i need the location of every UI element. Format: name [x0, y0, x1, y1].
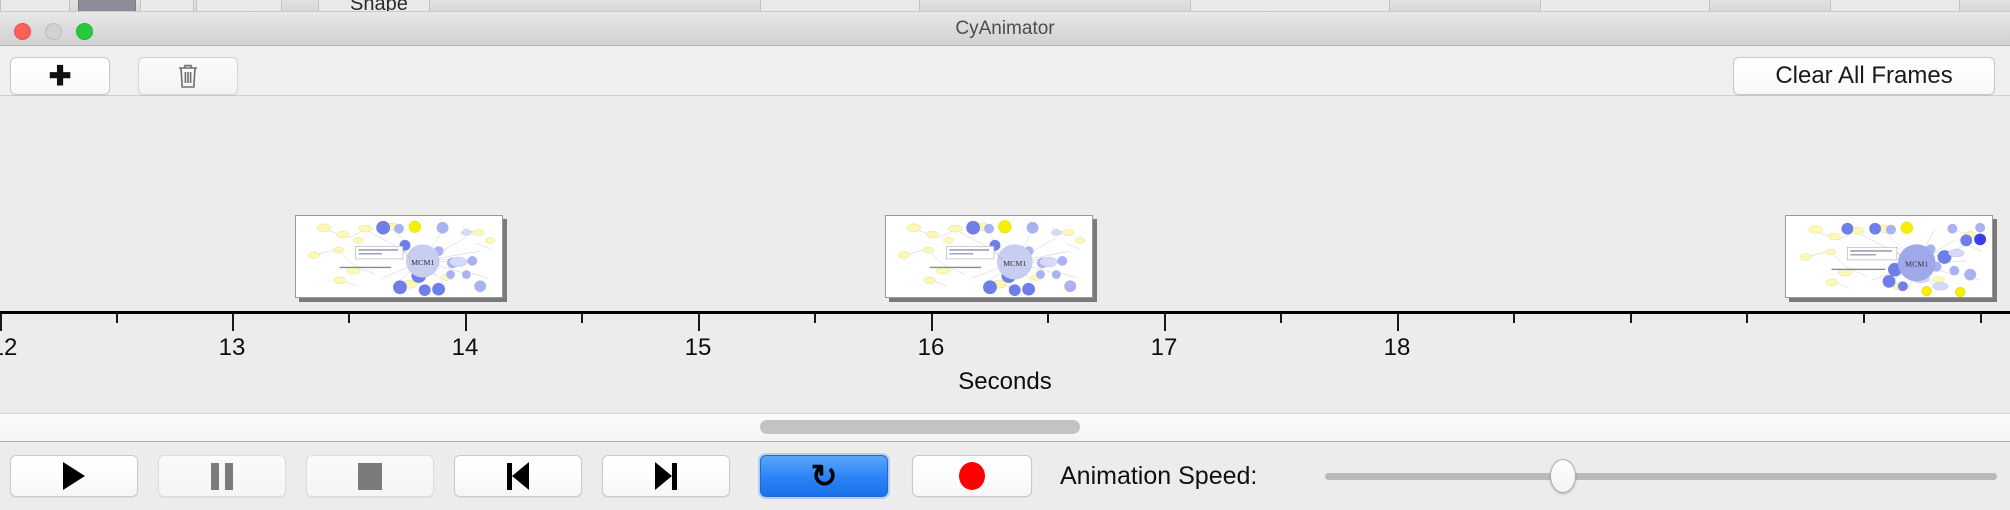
- skip-forward-icon: [655, 462, 677, 490]
- tick-minor: [814, 314, 816, 323]
- record-icon: [959, 462, 985, 490]
- toolbar: [0, 46, 2010, 96]
- loop-icon: ↻: [811, 460, 838, 492]
- timeline-axis-line: [0, 311, 2010, 314]
- network-graph-3: MCM1: [1786, 216, 1992, 297]
- tick-major-17: [1164, 314, 1166, 331]
- tick-major-16: [931, 314, 933, 331]
- tick-label-14: 14: [452, 334, 479, 362]
- stop-button[interactable]: [306, 455, 434, 497]
- tick-major-13: [232, 314, 234, 331]
- play-icon: [63, 462, 85, 490]
- tick-minor: [348, 314, 350, 323]
- slider-thumb[interactable]: [1550, 459, 1576, 493]
- tick-major-18: [1397, 314, 1399, 331]
- scrollbar-thumb[interactable]: [760, 420, 1080, 434]
- tick-minor: [1513, 314, 1515, 323]
- tick-minor: [1630, 314, 1632, 323]
- stop-icon: [358, 463, 382, 490]
- tick-minor: [1280, 314, 1282, 323]
- cyanimator-window: Shape CyAnimator ✚ Clear All Frames: [0, 0, 2010, 510]
- network-graph-2: MCM1: [886, 216, 1092, 297]
- title-bar: CyAnimator: [0, 12, 2010, 46]
- frame-2-center-label: MCM1: [1003, 259, 1026, 268]
- skip-backward-icon: [507, 462, 529, 490]
- tick-minor: [581, 314, 583, 323]
- pause-button[interactable]: [158, 455, 286, 497]
- timeline-panel[interactable]: MCM1: [0, 96, 2010, 413]
- plus-icon: ✚: [49, 63, 72, 90]
- network-graph-1: MCM1: [296, 216, 502, 297]
- tick-minor: [1980, 314, 1982, 323]
- tick-label-13: 13: [219, 334, 246, 362]
- frame-3-center-label: MCM1: [1905, 260, 1928, 269]
- animation-speed-label: Animation Speed:: [1060, 462, 1257, 491]
- frame-thumbnail-1[interactable]: MCM1: [295, 215, 503, 298]
- tick-label-12: 12: [0, 334, 17, 362]
- tick-label-16: 16: [918, 334, 945, 362]
- window-title: CyAnimator: [0, 12, 2010, 46]
- timeline-axis-title: Seconds: [0, 368, 2010, 396]
- tick-minor: [116, 314, 118, 323]
- add-frame-button[interactable]: ✚: [10, 57, 110, 95]
- frame-1-center-label: MCM1: [411, 258, 434, 267]
- frame-thumbnail-2[interactable]: MCM1: [885, 215, 1093, 298]
- previous-frame-button[interactable]: [454, 455, 582, 497]
- slider-track: [1325, 473, 1997, 480]
- tick-label-15: 15: [685, 334, 712, 362]
- frame-thumbnail-3[interactable]: MCM1: [1785, 215, 1993, 298]
- clear-all-frames-button[interactable]: Clear All Frames: [1733, 57, 1995, 95]
- animation-speed-slider[interactable]: [1325, 455, 1997, 497]
- next-frame-button[interactable]: [602, 455, 730, 497]
- delete-frame-button[interactable]: [138, 57, 238, 95]
- tick-minor: [1047, 314, 1049, 323]
- tick-major-12: [0, 314, 2, 331]
- tick-label-18: 18: [1384, 334, 1411, 362]
- loop-button[interactable]: ↻: [760, 455, 888, 497]
- record-button[interactable]: [912, 455, 1032, 497]
- tick-label-17: 17: [1151, 334, 1178, 362]
- tick-minor: [1863, 314, 1865, 323]
- tick-minor: [1746, 314, 1748, 323]
- tick-major-15: [698, 314, 700, 331]
- tick-major-14: [465, 314, 467, 331]
- timeline-scrollbar[interactable]: [0, 413, 2010, 442]
- play-button[interactable]: [10, 455, 138, 497]
- pause-icon: [211, 463, 233, 490]
- playback-toolbar: ↻ Animation Speed:: [0, 443, 2010, 510]
- trash-icon: [177, 63, 199, 89]
